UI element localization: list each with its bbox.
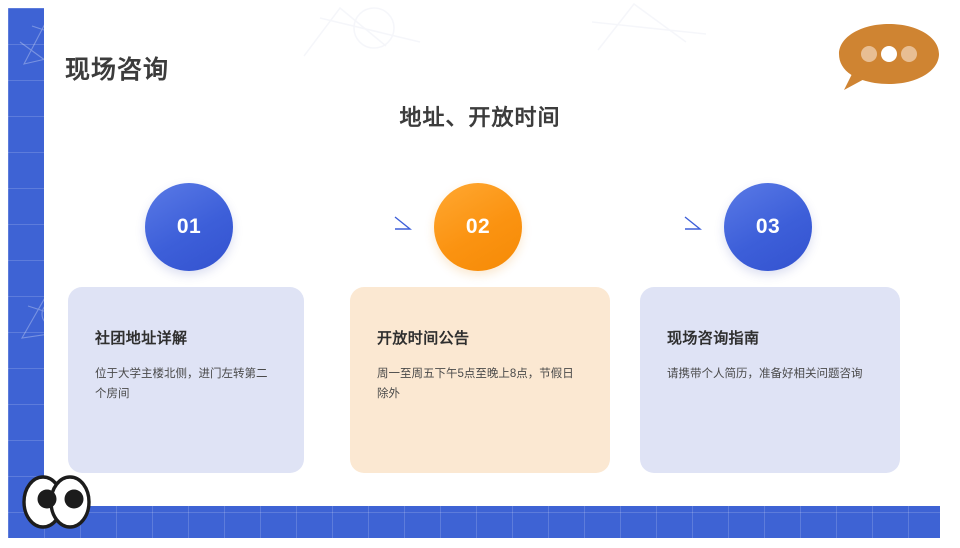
step-circle-03[interactable]: 03 <box>724 183 812 271</box>
info-card-3[interactable]: 现场咨询指南 请携带个人简历，准备好相关问题咨询 <box>640 287 900 473</box>
step-number-02: 02 <box>466 215 490 239</box>
eyes-icon <box>16 466 96 536</box>
page-title: 现场咨询 <box>65 50 169 86</box>
info-card-2-body: 周一至周五下午5点至晚上8点，节假日除外 <box>377 365 583 405</box>
info-card-2[interactable]: 开放时间公告 周一至周五下午5点至晚上8点，节假日除外 <box>350 287 610 473</box>
slide-canvas: 现场咨询 地址、开放时间 01 02 03 <box>0 0 960 548</box>
info-card-2-title: 开放时间公告 <box>377 327 583 348</box>
step-number-03: 03 <box>756 215 780 239</box>
step-number-01: 01 <box>177 215 201 239</box>
info-card-3-body: 请携带个人简历，准备好相关问题咨询 <box>667 365 873 385</box>
info-card-1-body: 位于大学主楼北侧，进门左转第二个房间 <box>95 365 277 405</box>
info-card-1-title: 社团地址详解 <box>95 327 277 348</box>
white-content-top-strip <box>44 0 940 8</box>
step-circle-01[interactable]: 01 <box>145 183 233 271</box>
arrow-right-icon-2 <box>543 212 703 240</box>
step-circle-02[interactable]: 02 <box>434 183 522 271</box>
section-title: 地址、开放时间 <box>0 100 960 132</box>
info-card-3-title: 现场咨询指南 <box>667 327 873 348</box>
speech-bubble-icon <box>835 20 943 102</box>
info-card-1[interactable]: 社团地址详解 位于大学主楼北侧，进门左转第二个房间 <box>68 287 304 473</box>
arrow-right-icon-1 <box>253 212 413 240</box>
